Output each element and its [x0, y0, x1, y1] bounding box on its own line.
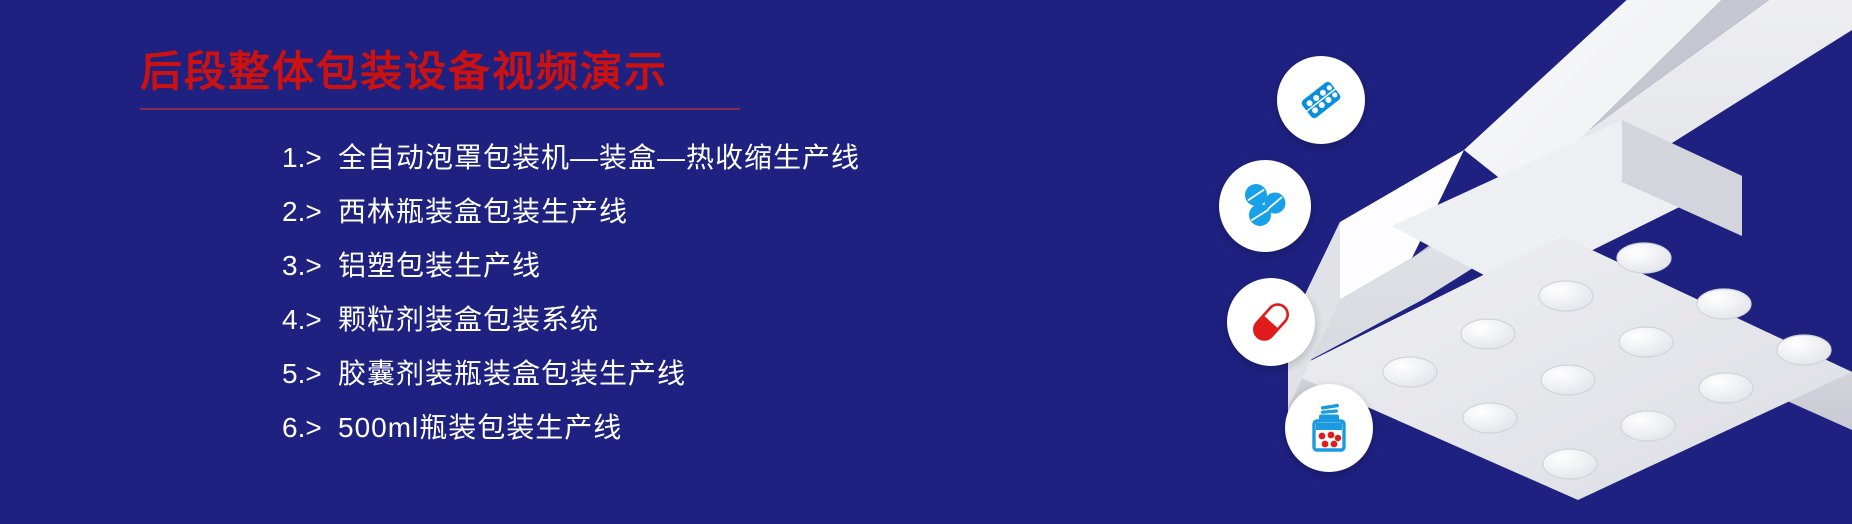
page-title: 后段整体包装设备视频演示: [140, 48, 1020, 96]
list-item-label: 颗粒剂装盒包装系统: [338, 306, 599, 334]
list-item-marker: 3.>: [282, 252, 338, 280]
list-item-label: 铝塑包装生产线: [338, 252, 541, 280]
list-item[interactable]: 3.> 铝塑包装生产线: [140, 252, 1020, 280]
title-divider: [140, 108, 740, 110]
promo-banner: 后段整体包装设备视频演示 1.> 全自动泡罩包装机—装盒—热收缩生产线 2.> …: [0, 0, 1852, 524]
list-item-label: 胶囊剂装瓶装盒包装生产线: [338, 360, 686, 388]
icon-bubble-pill-bottle: [1285, 384, 1373, 472]
list-item-marker: 4.>: [282, 306, 338, 334]
list-item-marker: 2.>: [282, 198, 338, 226]
list-item[interactable]: 1.> 全自动泡罩包装机—装盒—热收缩生产线: [140, 144, 1020, 172]
icon-bubble-blister: [1277, 56, 1365, 144]
capsule-icon: [1247, 298, 1295, 346]
icon-bubble-tablets: [1219, 160, 1311, 252]
icon-bubble-group: [1205, 48, 1465, 478]
list-item-marker: 1.>: [282, 144, 338, 172]
blister-pack-icon: [1296, 75, 1346, 125]
list-item[interactable]: 6.> 500ml瓶装包装生产线: [140, 414, 1020, 442]
list-item-marker: 6.>: [282, 414, 338, 442]
icon-bubble-capsule: [1227, 278, 1315, 366]
content-block: 后段整体包装设备视频演示 1.> 全自动泡罩包装机—装盒—热收缩生产线 2.> …: [140, 48, 1020, 442]
list-item[interactable]: 2.> 西林瓶装盒包装生产线: [140, 198, 1020, 226]
list-item-label: 500ml瓶装包装生产线: [338, 414, 622, 442]
pill-bottle-icon: [1305, 403, 1353, 453]
tablets-icon: [1239, 180, 1291, 232]
equipment-list: 1.> 全自动泡罩包装机—装盒—热收缩生产线 2.> 西林瓶装盒包装生产线 3.…: [140, 144, 1020, 442]
list-item-label: 西林瓶装盒包装生产线: [338, 198, 628, 226]
list-item-label: 全自动泡罩包装机—装盒—热收缩生产线: [338, 144, 860, 172]
list-item[interactable]: 5.> 胶囊剂装瓶装盒包装生产线: [140, 360, 1020, 388]
list-item-marker: 5.>: [282, 360, 338, 388]
list-item[interactable]: 4.> 颗粒剂装盒包装系统: [140, 306, 1020, 334]
